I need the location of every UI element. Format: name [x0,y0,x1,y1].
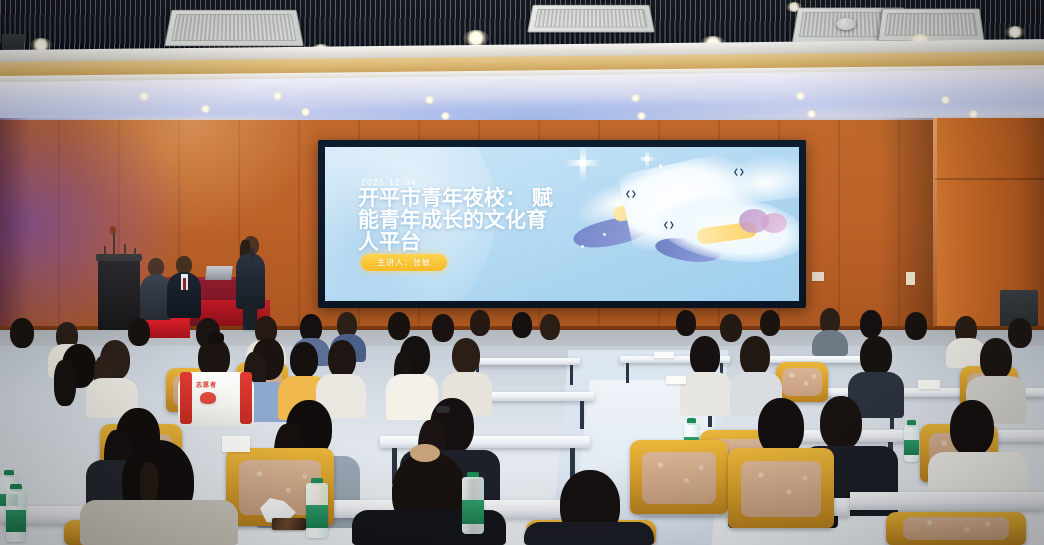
pillar-seam [935,178,1044,180]
water-bottle[interactable] [306,478,328,538]
slide-presenter-badge: 主讲人：张敏 [361,254,447,271]
audience-head [676,310,696,336]
bottle-body [6,489,26,542]
soffit-spotlight [424,96,435,104]
soffit-spotlight [300,108,311,116]
audience-head [512,312,532,338]
audience-head [950,400,994,456]
microphone [250,248,254,258]
audience-table [850,492,1044,510]
audience-hair [54,360,76,406]
notebook[interactable] [918,380,940,389]
audience-torso [80,500,238,545]
laptop [205,266,232,280]
wall-switch-plate [906,272,915,285]
ceiling-spotlight [786,2,802,12]
audience-head [290,342,318,378]
soffit-spotlight [272,92,283,100]
audience-head [980,338,1012,380]
bottle-label [306,505,328,528]
bottle-body [904,425,919,462]
table-leg [580,401,584,429]
slide-bird-icon: ❮❯ [733,169,745,176]
table-leg [570,365,573,385]
volunteer-jacket-trim [180,372,192,424]
bottle-label [6,510,26,532]
audience-torso [680,372,732,416]
person-tie [183,278,186,290]
soffit-spotlight [200,105,211,113]
ceiling-spotlight [463,30,489,46]
slide-title: 开平市青年夜校： 赋 能青年成长的文化育 人平台 [358,188,583,254]
slide-bird-icon: ❮❯ [663,222,675,229]
slide-date: 2025.12.04 [361,178,417,187]
presentation-screen: ❮❯ ❮❯ ❮❯ 2025.12.04 开平市青年夜校： 赋 能青年成长的文化育… [325,147,799,301]
audience-head [10,318,34,348]
audience-head [470,310,490,336]
ceiling-fixture [836,18,856,30]
audience-head [820,396,862,450]
bottle-body [306,483,328,538]
volunteer-jacket-text: 志愿者 [196,380,217,389]
audience-head [452,338,480,374]
audience-table [470,358,580,365]
notebook [654,352,674,358]
audience-torso [524,522,654,545]
slide-sparkle [659,164,662,169]
ac-unit [878,9,985,41]
banquet-chair[interactable] [728,448,834,528]
soffit-spotlight [968,110,979,118]
slide-bird-icon: ❮❯ [625,191,637,198]
volunteer-logo [200,392,216,404]
presenter-torso [236,253,265,309]
ceiling-spotlight [1005,26,1025,38]
notebook[interactable] [666,376,686,384]
soffit-spotlight [138,92,150,101]
audience-torso [812,330,848,356]
wall-outlet [812,272,824,281]
water-bottle[interactable] [462,472,484,534]
mobile-phone[interactable] [272,518,306,530]
audience-head [905,312,927,340]
audience-head [540,314,560,340]
water-bottle[interactable] [904,420,919,462]
banquet-chair[interactable] [776,362,828,402]
hair-clip [436,406,450,413]
water-bottle[interactable] [6,484,26,542]
pillar-edge [933,118,937,358]
soffit-spotlight [630,94,641,102]
soffit-spotlight [440,112,451,120]
soffit-spotlight [940,96,951,104]
soffit-spotlight [636,112,647,120]
audience-head [860,336,892,376]
slide-title-line: 开平市青年夜校： 赋 [358,188,583,210]
bottle-label [904,440,919,456]
notebook[interactable] [222,436,250,452]
audience-torso [386,374,438,420]
mic-stand [134,248,136,258]
mic-stand [113,232,115,256]
audience-table [380,436,590,448]
audience-head [128,318,150,346]
mic-stand [104,246,106,258]
table-leg [626,363,629,383]
audience-head [740,336,770,376]
soffit-spotlight [806,110,817,118]
banquet-chair[interactable] [886,512,1026,545]
audience-head [432,314,454,342]
audience-head [860,310,882,338]
audience-head [388,312,410,340]
slide-title-line: 能青年成长的文化育 [358,210,583,232]
flower-arrangement [110,226,116,234]
slide-illustration-shape [761,213,787,233]
volunteer-jacket-trim [240,372,252,424]
audience-head [328,340,356,378]
slide-sparkle [603,233,606,236]
slide-title-line: 人平台 [358,232,583,254]
bottle-label [462,500,484,524]
mic-stand [124,244,126,258]
conference-hall-photo: ❮❯ ❮❯ ❮❯ 2025.12.04 开平市青年夜校： 赋 能青年成长的文化育… [0,0,1044,545]
banquet-chair[interactable] [630,440,728,514]
audience-hair-bun [208,332,224,344]
audience-head [720,314,742,342]
bottle-body [462,477,484,534]
ac-unit [527,5,655,33]
audience-head [690,336,720,376]
audience-head [760,310,780,336]
audience-head [1008,318,1032,348]
audience-hair-bun [410,444,440,462]
soffit-spotlight [795,92,806,100]
ac-unit [164,10,304,46]
